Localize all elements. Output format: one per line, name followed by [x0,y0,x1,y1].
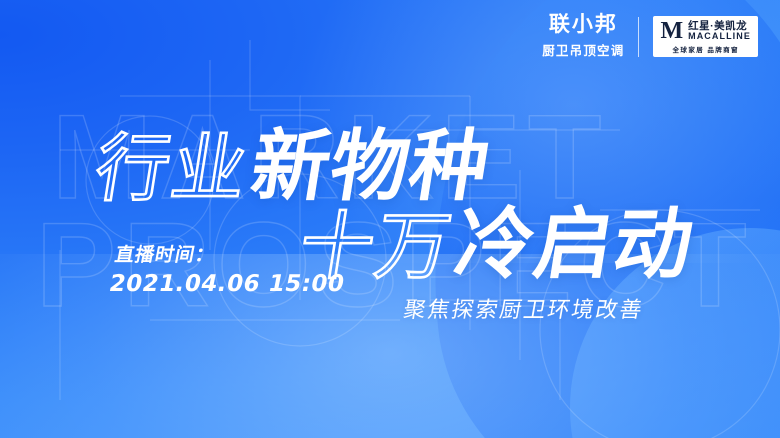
brand-bar: 联小邦 厨卫吊顶空调 M 红星·美凯龙 MACALLINE 全球家居 品牌商窗 [542,14,758,59]
headline-line-1: 行业 新物种 [96,128,489,206]
headline-line2-bold: 冷启动 [450,206,699,284]
promo-poster: MARKET PROSPECT [0,0,780,438]
brand-primary: 联小邦 厨卫吊顶空调 [542,14,624,59]
live-time-value: 2021.04.06 15:00 [106,269,347,300]
macalline-monogram-icon: M [660,20,683,43]
partner-name-en: MACALLINE [688,32,751,41]
partner-logo-row: M 红星·美凯龙 MACALLINE [660,20,751,43]
headline-line1-bold: 新物种 [246,128,495,206]
brand-divider [638,17,639,57]
live-time-block: 直播时间： 2021.04.06 15:00 [106,243,352,300]
headline-line1-thin: 行业 [90,132,254,206]
headline-line-2: 十万 冷启动 [300,206,693,284]
live-time-label: 直播时间： [113,243,353,269]
brand-subtitle: 厨卫吊顶空调 [542,40,624,59]
partner-logo: M 红星·美凯龙 MACALLINE 全球家居 品牌商窗 [653,16,758,58]
poster-tagline: 聚焦探索厨卫环境改善 [401,292,647,324]
partner-logo-text: 红星·美凯龙 MACALLINE [688,21,751,41]
partner-tagline: 全球家居 品牌商窗 [673,44,739,54]
brand-name: 联小邦 [542,14,624,36]
